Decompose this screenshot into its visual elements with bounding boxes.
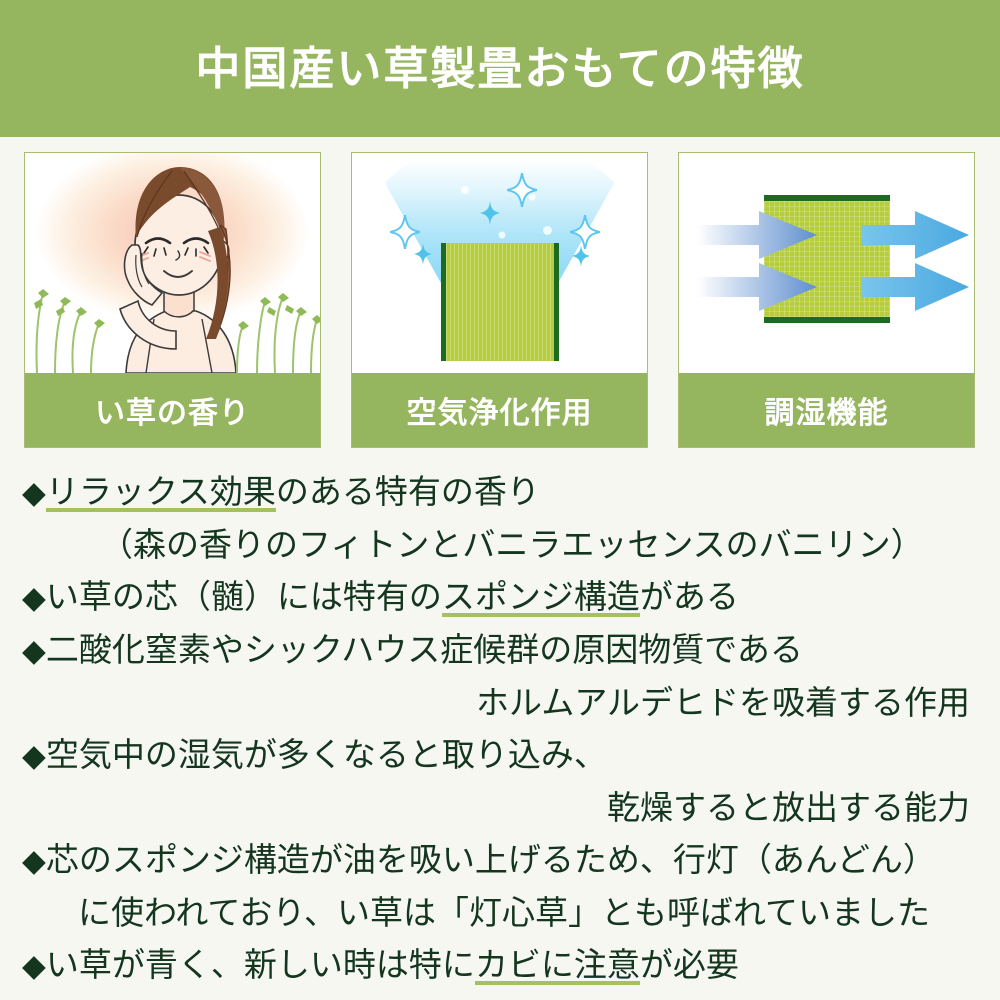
page-header: 中国産い草製畳おもての特徴 bbox=[0, 0, 1000, 137]
bullet-text: に使われており、い草は「灯心草」とも呼ばれていました bbox=[78, 894, 930, 931]
bullet-text: のある特有の香り bbox=[276, 473, 540, 510]
bullet-text: がある bbox=[640, 578, 739, 615]
card-illustration-air-purification bbox=[352, 153, 647, 373]
moisture-out-arrow-icon bbox=[861, 263, 969, 311]
sparkle-icon bbox=[570, 215, 600, 249]
bubble-icon bbox=[542, 225, 553, 236]
feature-card-air-purification[interactable]: 空気浄化作用 bbox=[351, 152, 648, 448]
feature-card-humidity-control[interactable]: 調湿機能 bbox=[678, 152, 975, 448]
card-label-fragrance: い草の香り bbox=[25, 373, 320, 447]
bubble-icon bbox=[528, 193, 536, 201]
bullet-text: ホルムアルデヒドを吸着する作用 bbox=[476, 684, 970, 721]
bullet-diamond-icon: ◆ bbox=[22, 475, 46, 510]
air-art-background bbox=[352, 153, 647, 373]
bullet-highlight-text: カビに注意 bbox=[475, 946, 640, 985]
sparkle-icon bbox=[480, 201, 500, 225]
bullet-diamond-icon: ◆ bbox=[22, 580, 46, 615]
card-label-air-purification: 空気浄化作用 bbox=[352, 373, 647, 447]
moisture-in-arrow-icon bbox=[697, 211, 817, 259]
bullet-line: ◆リラックス効果のある特有の香り bbox=[22, 466, 980, 519]
sparkle-icon bbox=[507, 173, 537, 207]
bullet-text: い草が青く、新しい時は特に bbox=[46, 946, 475, 983]
bullet-line: に使われており、い草は「灯心草」とも呼ばれていました bbox=[22, 887, 980, 939]
bullet-text: い草の芯（髄）には特有の bbox=[46, 578, 442, 615]
bullet-line: （森の香りのフィトンとバニラエッセンスのバニリン） bbox=[22, 519, 980, 571]
moisture-in-arrow-icon bbox=[697, 263, 817, 311]
card-illustration-humidity-control bbox=[679, 153, 974, 373]
bullet-text: 芯のスポンジ構造が油を吸い上げるため、行灯（あんどん） bbox=[46, 841, 936, 878]
bubble-icon bbox=[498, 231, 506, 239]
feature-card-row: い草の香り bbox=[0, 137, 1000, 448]
bullet-text: 二酸化窒素やシックハウス症候群の原因物質である bbox=[46, 631, 803, 668]
bullet-highlight-text: リラックス効果 bbox=[46, 473, 276, 512]
bullet-line: ◆い草の芯（髄）には特有のスポンジ構造がある bbox=[22, 571, 980, 624]
bullet-diamond-icon: ◆ bbox=[22, 633, 46, 668]
bullet-text: 空気中の湿気が多くなると取り込み、 bbox=[46, 736, 607, 773]
feature-bullet-list: ◆リラックス効果のある特有の香り（森の香りのフィトンとバニラエッセンスのバニリン… bbox=[0, 448, 1000, 992]
bubble-icon bbox=[460, 185, 470, 195]
bullet-text: （森の香りのフィトンとバニラエッセンスのバニリン） bbox=[100, 526, 924, 563]
bullet-line: 乾燥すると放出する能力 bbox=[22, 782, 980, 834]
tatami-mat-icon bbox=[441, 243, 559, 361]
bullet-diamond-icon: ◆ bbox=[22, 948, 46, 983]
bullet-highlight-text: スポンジ構造 bbox=[442, 578, 640, 617]
bullet-line: ◆い草が青く、新しい時は特にカビに注意が必要 bbox=[22, 939, 980, 992]
rush-grass-icon bbox=[25, 253, 320, 373]
humidity-art-background bbox=[679, 153, 974, 373]
bullet-line: ホルムアルデヒドを吸着する作用 bbox=[22, 677, 980, 729]
card-label-humidity-control: 調湿機能 bbox=[679, 373, 974, 447]
sparkle-icon bbox=[414, 243, 432, 265]
bullet-text: 乾燥すると放出する能力 bbox=[607, 789, 970, 826]
card-illustration-fragrance bbox=[25, 153, 320, 373]
bullet-line: ◆芯のスポンジ構造が油を吸い上げるため、行灯（あんどん） bbox=[22, 834, 980, 887]
page-title: 中国産い草製畳おもての特徴 bbox=[195, 46, 804, 91]
moisture-out-arrow-icon bbox=[861, 211, 969, 259]
bullet-diamond-icon: ◆ bbox=[22, 843, 46, 878]
bullet-line: ◆空気中の湿気が多くなると取り込み、 bbox=[22, 729, 980, 782]
feature-card-fragrance[interactable]: い草の香り bbox=[24, 152, 321, 448]
bullet-text: が必要 bbox=[640, 946, 739, 983]
bullet-diamond-icon: ◆ bbox=[22, 738, 46, 773]
sparkle-icon bbox=[572, 245, 590, 267]
bullet-line: ◆二酸化窒素やシックハウス症候群の原因物質である bbox=[22, 624, 980, 677]
